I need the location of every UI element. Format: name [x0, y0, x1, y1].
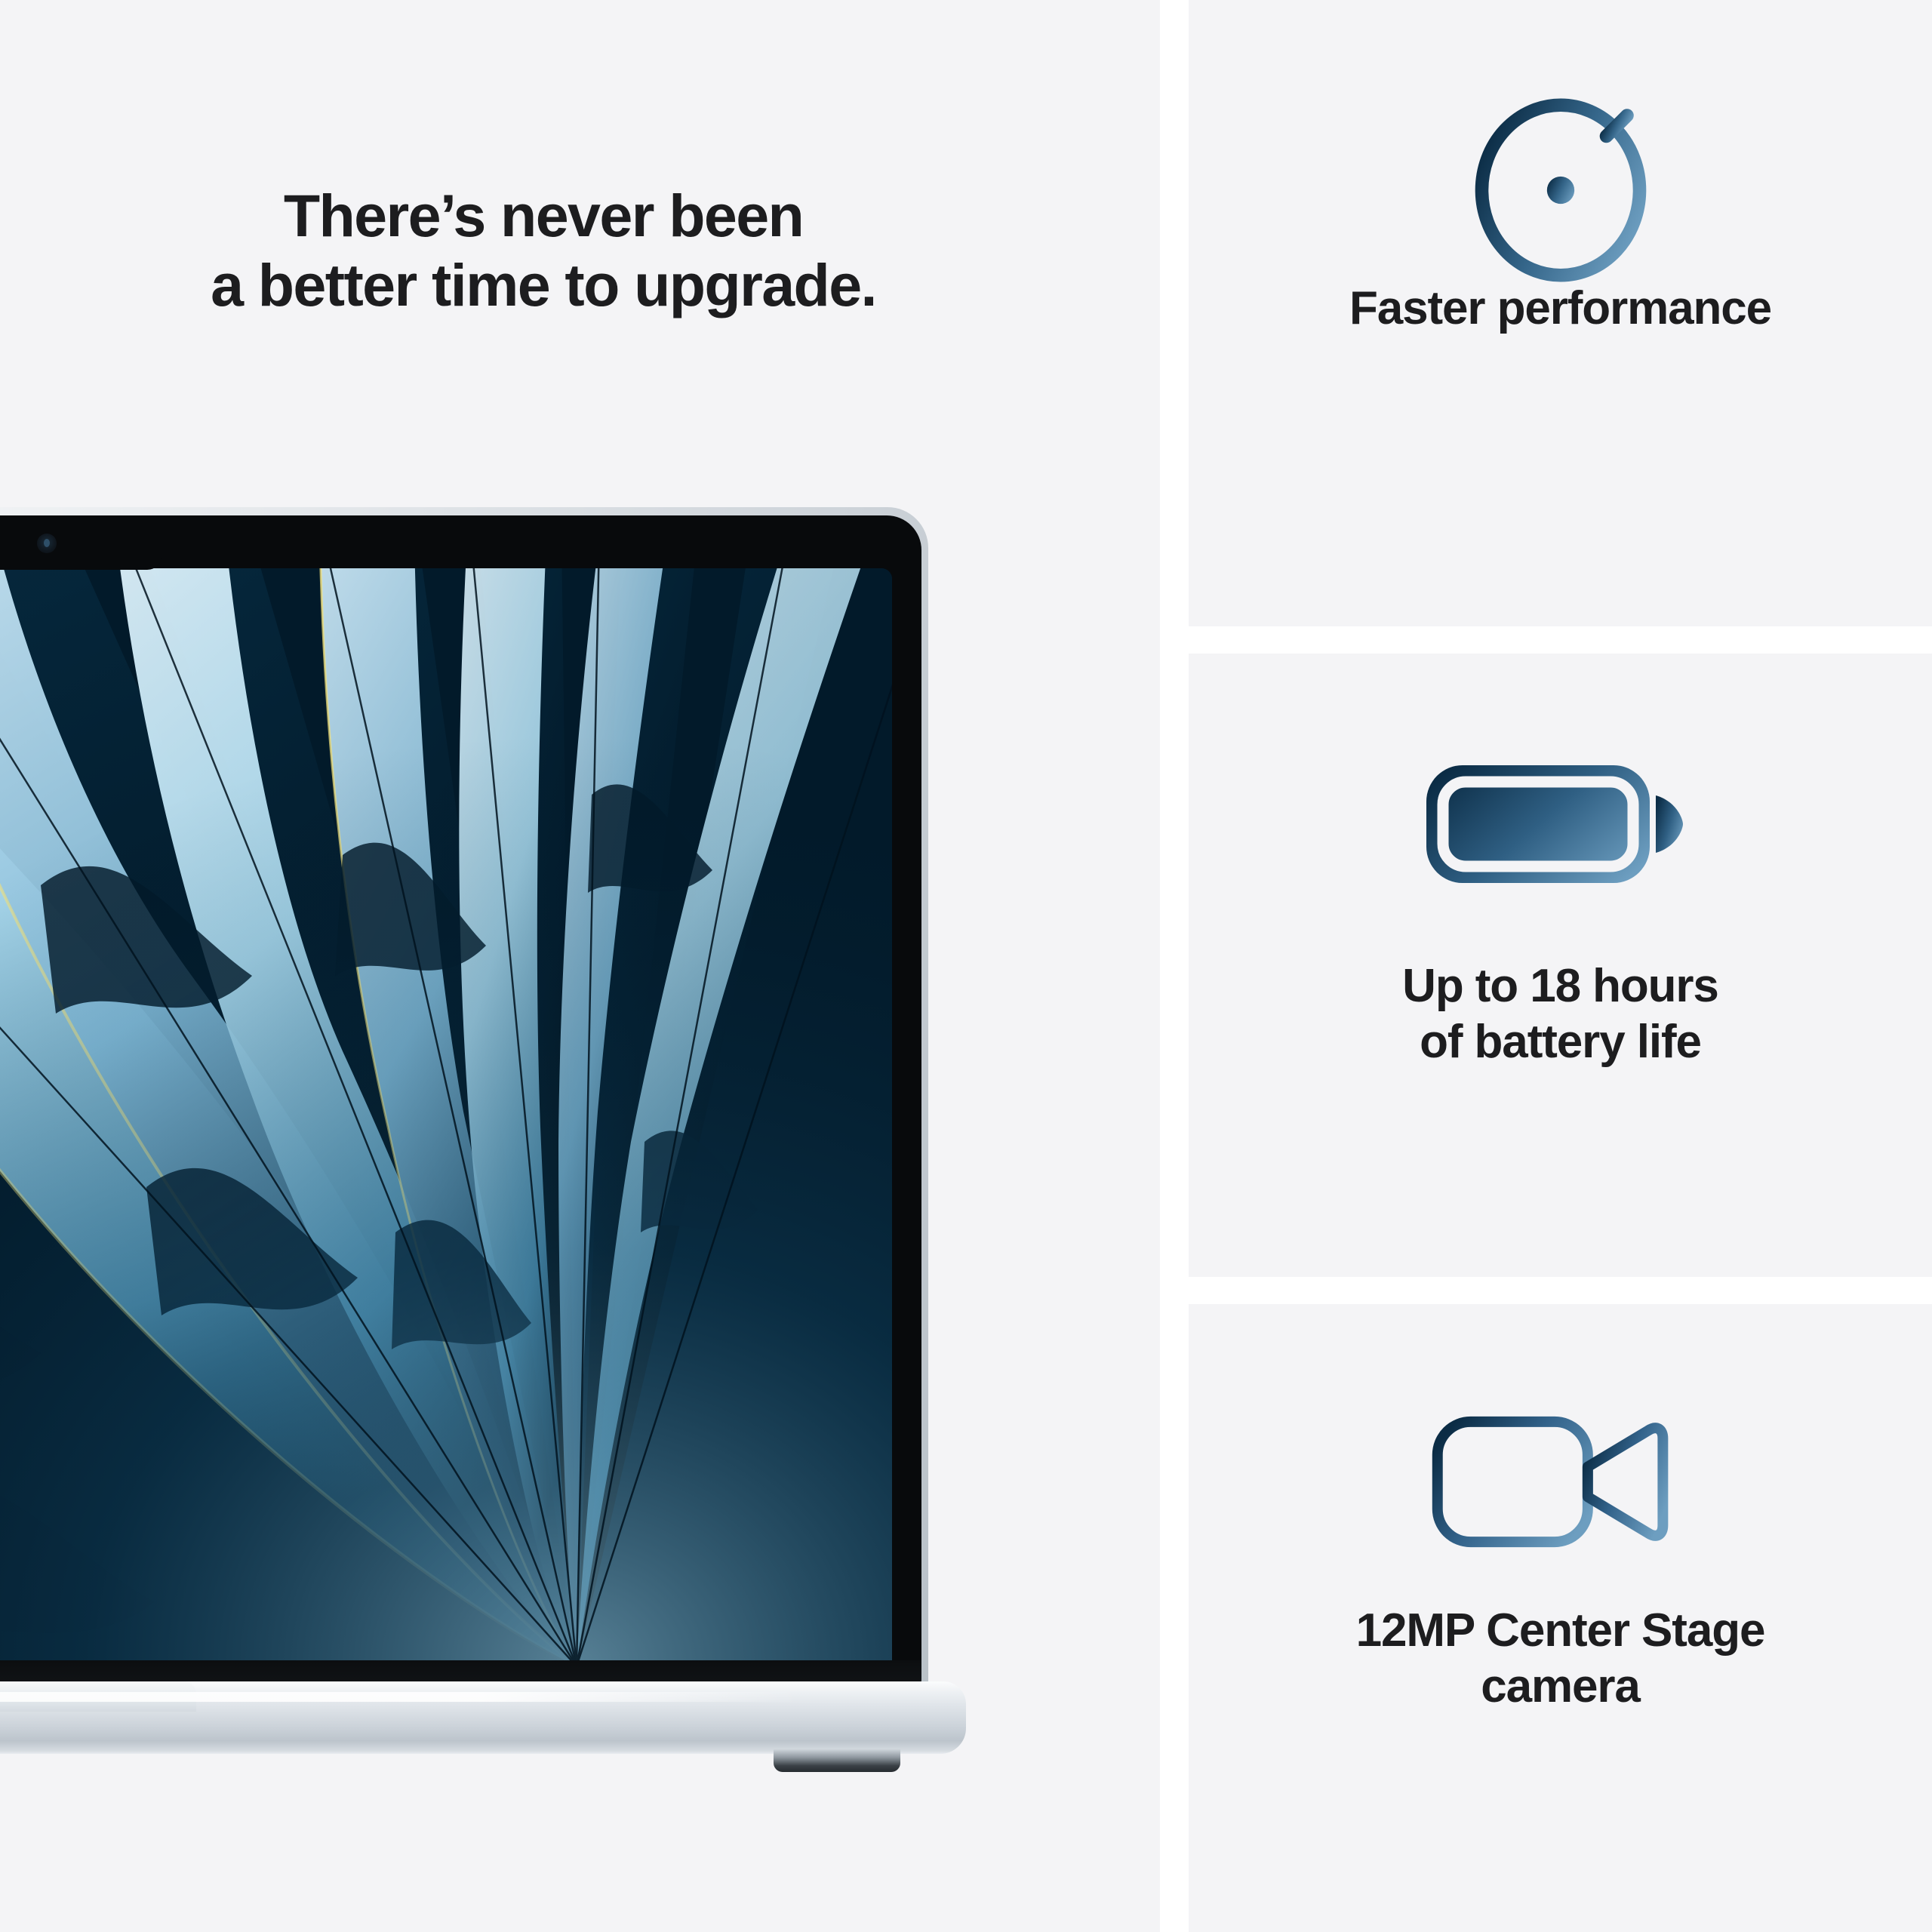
feature-card-camera: 12MP Center Stage camera — [1189, 1304, 1932, 1932]
feature-label-camera: 12MP Center Stage camera — [1326, 1603, 1795, 1715]
video-camera-icon — [1189, 1304, 1932, 1621]
feature-label-performance: Faster performance — [1319, 281, 1801, 337]
feature-card-battery: Up to 18 hours of battery life — [1189, 654, 1932, 1277]
laptop-foot — [774, 1749, 900, 1772]
macbook-air-image — [0, 507, 928, 1730]
feature-label-battery: Up to 18 hours of battery life — [1372, 958, 1749, 1071]
hero-panel: There’s never been a better time to upgr… — [0, 0, 1160, 1932]
desktop-wallpaper — [0, 568, 892, 1666]
laptop-display — [0, 568, 892, 1666]
facetime-camera-icon — [37, 534, 57, 553]
promo-page: There’s never been a better time to upgr… — [0, 0, 1932, 1932]
battery-full-icon — [1189, 654, 1932, 971]
feature-cards: Faster performance U — [1189, 0, 1932, 1932]
laptop-screen-glass — [0, 515, 921, 1693]
stopwatch-icon — [1189, 0, 1932, 317]
laptop-base-highlight — [0, 1692, 800, 1702]
display-notch — [0, 515, 162, 570]
page-headline: There’s never been a better time to upgr… — [0, 181, 1087, 321]
wallpaper-fan-graphic — [0, 568, 892, 1666]
feature-card-performance: Faster performance — [1189, 0, 1932, 626]
